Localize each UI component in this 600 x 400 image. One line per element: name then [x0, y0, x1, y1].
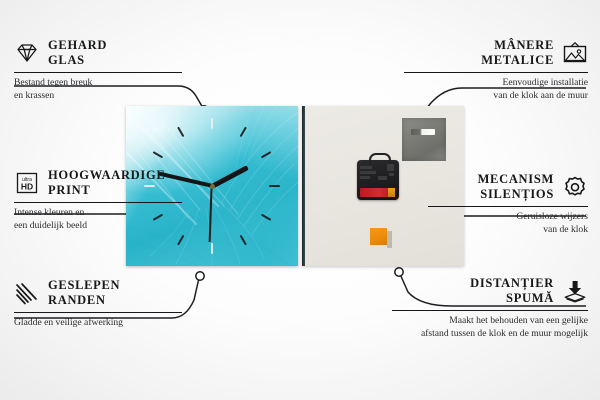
feature-description: Eenvoudige installatie van de klok aan d…	[404, 77, 588, 102]
feature-divider	[14, 312, 182, 314]
feature-divider	[428, 206, 588, 208]
feature-heading: GEHARD GLAS	[14, 38, 182, 69]
feature-title: MÂNERE METALICE	[481, 38, 554, 69]
feature-description: Bestand tegen breuk en krassen	[14, 77, 182, 102]
clock-center-cap	[210, 184, 215, 189]
leader-dot-polished-edges	[196, 272, 204, 280]
feature-divider	[392, 310, 588, 312]
ultra-hd-icon: ultra HD	[14, 171, 40, 195]
feature-divider	[14, 72, 182, 74]
diagonal-lines-icon	[14, 281, 40, 305]
silent-clock-mechanism	[357, 160, 399, 200]
feature-title: DISTANȚIER SPUMĂ	[470, 276, 554, 307]
feature-title: GESLEPEN RANDEN	[48, 278, 120, 309]
battery-positive-tip	[388, 188, 395, 197]
arrow-down-layers-icon	[562, 279, 588, 303]
feature-heading: MÂNERE METALICE	[404, 38, 588, 69]
feature-divider	[14, 202, 182, 204]
feature-high-quality-print: ultra HD HOOGWAARDIGE PRINT Intense kleu…	[14, 168, 182, 232]
feature-heading: GESLEPEN RANDEN	[14, 278, 182, 309]
panel-left-edge	[302, 106, 305, 266]
feature-title: GEHARD GLAS	[48, 38, 107, 69]
mechanism-housing-detail	[360, 164, 396, 184]
feature-title: HOOGWAARDIGE PRINT	[48, 168, 165, 199]
diamond-icon	[14, 41, 40, 65]
feature-tempered-glass: GEHARD GLAS Bestand tegen breuk en krass…	[14, 38, 182, 102]
hanger-slot	[411, 129, 435, 135]
feature-description: Maakt het behouden van een gelijke afsta…	[392, 315, 588, 340]
feature-description: Geruisloze wijzers van de klok	[428, 211, 588, 236]
feature-description: Intense kleuren en een duidelijk beeld	[14, 207, 182, 232]
feature-polished-edges: GESLEPEN RANDEN Gladde en veilige afwerk…	[14, 278, 182, 330]
feature-title: MECANISM SILENȚIOS	[478, 172, 554, 203]
metal-hanger-plate	[402, 118, 446, 161]
feature-heading: ultra HD HOOGWAARDIGE PRINT	[14, 168, 182, 199]
foam-spacer-shadow	[387, 231, 392, 248]
svg-text:HD: HD	[21, 182, 33, 192]
feature-foam-spacer: DISTANȚIER SPUMĂ Maakt het behouden van …	[392, 276, 588, 340]
foam-spacer-piece	[370, 228, 387, 245]
clock-battery	[360, 188, 395, 197]
feature-metal-handles: MÂNERE METALICE Eenvoudige installatie v…	[404, 38, 588, 102]
feature-silent-mechanism: MECANISM SILENȚIOS Geruisloze wijzers va…	[428, 172, 588, 236]
feature-heading: MECANISM SILENȚIOS	[428, 172, 588, 203]
leader-dot-foam-spacer	[395, 268, 403, 276]
gear-icon	[562, 175, 588, 199]
infographic-canvas: GEHARD GLAS Bestand tegen breuk en krass…	[0, 0, 600, 400]
feature-heading: DISTANȚIER SPUMĂ	[392, 276, 588, 307]
feature-divider	[404, 72, 588, 74]
feature-description: Gladde en veilige afwerking	[14, 317, 182, 330]
picture-frame-icon	[562, 41, 588, 65]
